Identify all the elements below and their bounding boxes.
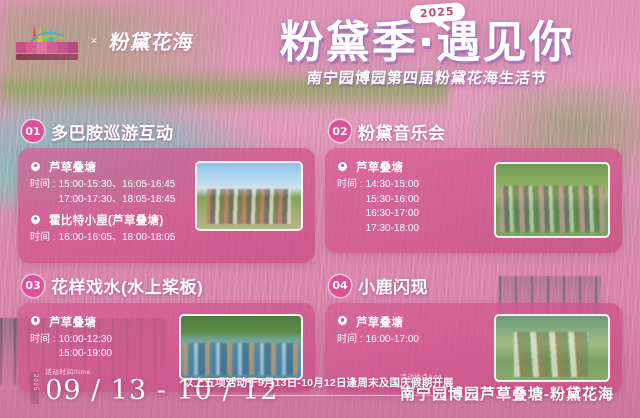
time-value: 17:30-18:00 — [366, 222, 419, 237]
card-title: 多巴胺巡游互动 — [51, 119, 174, 144]
location-line: 芦草叠塘 — [30, 314, 171, 330]
location-text: 芦草叠塘 — [49, 314, 96, 330]
card-number: 02 — [332, 126, 347, 137]
page-subtitle: 南宁园博园第四届粉黛花海生活节 — [231, 67, 623, 88]
activity-card-02[interactable]: 02 粉黛音乐会 芦草叠塘 时间 : 14:30-15:00 — [325, 118, 622, 263]
time-row: 时间 : 15:00-15:30、16:05-16:45 17:00-17:30… — [30, 178, 187, 207]
location-text: 芦草叠塘 — [49, 159, 96, 175]
time-values: 16:00-17:00 — [366, 333, 419, 348]
time-row: 时间 : 14:30-15:00 15:30-16:00 16:30-17:00… — [337, 178, 486, 236]
page-title: 粉黛季·遇见你 — [232, 20, 622, 66]
card-info: 芦草叠塘 时间 : 15:00-15:30、16:05-16:45 17:00-… — [30, 159, 187, 251]
flower-badge-icon: 03 — [22, 275, 44, 297]
time-value: 15:00-15:30、16:05-16:45 — [59, 178, 176, 193]
time-label: 时间 : — [30, 178, 56, 207]
activity-cards: 01 多巴胺巡游互动 芦草叠塘 时间 : 15:00-15:30、16:0 — [0, 118, 640, 394]
park-logo-ribbon — [16, 42, 78, 53]
time-value: 14:30-15:00 — [366, 178, 419, 193]
card-number: 01 — [25, 126, 40, 137]
location-pin-icon — [337, 162, 348, 173]
location-line: 霍比特小屋(芦草叠塘) — [30, 212, 187, 228]
place-block: 活动地点Add 南宁园博园芦草叠塘-粉黛花海 — [400, 371, 614, 404]
footer-note-divider — [183, 395, 435, 396]
card-title: 粉黛音乐会 — [358, 119, 446, 144]
photo-content — [197, 163, 301, 229]
time-row: 时间 : 16:00-17:00 — [337, 333, 486, 348]
parade-photo — [195, 161, 303, 231]
location-text: 芦草叠塘 — [356, 314, 403, 330]
flower-badge-icon: 02 — [329, 120, 351, 142]
card-header: 01 多巴胺巡游互动 — [18, 118, 315, 144]
photo-content — [496, 164, 608, 236]
time-value: 16:00-16:05、18:00-18:05 — [59, 231, 176, 246]
title-block: 2025 粉黛季·遇见你 南宁园博园第四届粉黛花海生活节 — [232, 6, 622, 88]
concert-photo — [494, 162, 610, 238]
cross-icon: × — [90, 33, 98, 48]
card-title: 花样戏水(水上桨板) — [51, 273, 203, 298]
location-pin-icon — [337, 316, 348, 327]
flower-badge-icon: 04 — [329, 275, 351, 297]
brand-script-logo: 粉黛花海 — [108, 26, 196, 55]
time-value: 17:00-17:30、18:05-18:45 — [59, 193, 176, 208]
location-text: 芦草叠塘 — [356, 159, 403, 175]
time-row: 时间 : 16:00-16:05、18:00-18:05 — [30, 231, 187, 246]
park-logo-caption — [16, 54, 78, 60]
card-header: 04 小鹿闪现 — [325, 273, 622, 299]
location-line: 芦草叠塘 — [337, 314, 486, 330]
time-value: 16:00-17:00 — [366, 333, 419, 348]
footer: 2025 活动时间/time 09 / 13 - 10 / 12 以上五项活动于… — [0, 354, 640, 418]
time-label: 时间 : — [337, 333, 363, 348]
time-value: 15:30-16:00 — [366, 193, 419, 208]
park-logo-icon — [16, 20, 78, 60]
location-pin-icon — [30, 215, 41, 226]
time-values: 15:00-15:30、16:05-16:45 17:00-17:30、18:0… — [59, 178, 176, 207]
logo-row: × 粉黛花海 — [16, 20, 194, 60]
place-tag: 活动地点Add — [400, 371, 614, 381]
card-title: 小鹿闪现 — [358, 273, 428, 298]
time-values: 14:30-15:00 15:30-16:00 16:30-17:00 17:3… — [366, 178, 419, 236]
time-values: 16:00-16:05、18:00-18:05 — [59, 231, 176, 246]
poster: × 粉黛花海 2025 粉黛季·遇见你 南宁园博园第四届粉黛花海生活节 01 多… — [0, 0, 640, 418]
location-pin-icon — [30, 162, 41, 173]
activity-card-01[interactable]: 01 多巴胺巡游互动 芦草叠塘 时间 : 15:00-15:30、16:0 — [18, 118, 315, 263]
location-line: 芦草叠塘 — [30, 159, 187, 175]
time-value: 10:00-12:30 — [59, 333, 112, 348]
footer-note: 以上五项活动于9月13日-10月12日逢周末及国庆假期开展 — [183, 375, 435, 390]
flower-badge-icon: 01 — [22, 120, 44, 142]
card-number: 04 — [332, 280, 347, 291]
year-badge: 2025 — [409, 2, 465, 24]
place-name: 南宁园博园芦草叠塘-粉黛花海 — [400, 383, 614, 404]
card-number: 03 — [25, 280, 40, 291]
location-pin-icon — [30, 316, 41, 327]
card-body: 芦草叠塘 时间 : 15:00-15:30、16:05-16:45 17:00-… — [18, 148, 315, 263]
date-side-label: 2025 — [30, 372, 39, 404]
time-value: 16:30-17:00 — [366, 207, 419, 222]
location-text: 霍比特小屋(芦草叠塘) — [49, 212, 163, 228]
card-header: 02 粉黛音乐会 — [325, 118, 622, 144]
card-row-top: 01 多巴胺巡游互动 芦草叠塘 时间 : 15:00-15:30、16:0 — [0, 118, 640, 263]
card-body: 芦草叠塘 时间 : 14:30-15:00 15:30-16:00 16:30-… — [325, 148, 622, 253]
card-info: 芦草叠塘 时间 : 14:30-15:00 15:30-16:00 16:30-… — [337, 159, 486, 241]
card-header: 03 花样戏水(水上桨板) — [18, 273, 315, 299]
location-line: 芦草叠塘 — [337, 159, 486, 175]
time-label: 时间 : — [30, 231, 56, 246]
time-label: 时间 : — [337, 178, 363, 236]
